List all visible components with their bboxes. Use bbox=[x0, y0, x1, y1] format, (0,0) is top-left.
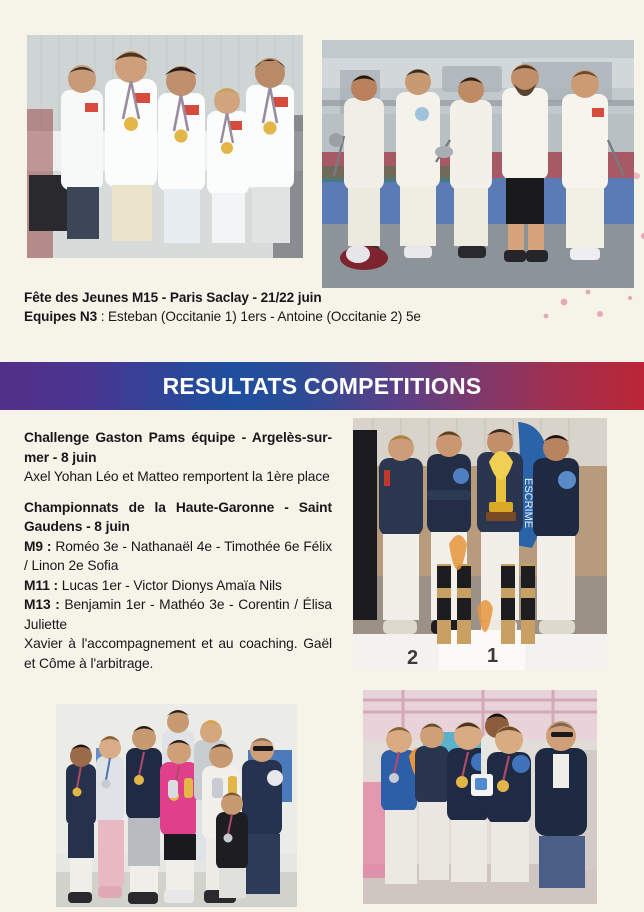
category-label-m9: M9 : bbox=[24, 539, 51, 554]
result-heading-2: Championnats de la Haute-Garonne - Saint… bbox=[24, 498, 332, 537]
competition-hall-team-photo bbox=[322, 40, 634, 288]
top-caption-block: Fête des Jeunes M15 - Paris Saclay - 21/… bbox=[24, 288, 584, 326]
caption-event-title: Fête des Jeunes M15 - Paris Saclay - 21/… bbox=[24, 290, 322, 305]
svg-text:2: 2 bbox=[407, 647, 418, 669]
results-banner: RESULTATS COMPETITIONS bbox=[0, 362, 644, 410]
young-fencers-medals-photo bbox=[363, 690, 597, 904]
results-spacer bbox=[24, 487, 332, 498]
banner-title: RESULTATS COMPETITIONS bbox=[163, 373, 482, 400]
result-line-2-0: M9 : Roméo 3e - Nathanaël 4e - Timothée … bbox=[24, 537, 332, 576]
result-heading-1: Challenge Gaston Pams équipe - Argelès-s… bbox=[24, 428, 332, 467]
category-value-m11: Lucas 1er - Victor Dionys Amaïa Nils bbox=[58, 578, 282, 593]
caption-line-event: Fête des Jeunes M15 - Paris Saclay - 21/… bbox=[24, 288, 584, 307]
caption-line-teams: Equipes N3 : Esteban (Occitanie 1) 1ers … bbox=[24, 307, 584, 326]
category-value-m13: Benjamin 1er - Mathéo 3e - Corentin / Él… bbox=[24, 597, 332, 632]
newsletter-page: Fête des Jeunes M15 - Paris Saclay - 21/… bbox=[0, 0, 644, 912]
result-line-1-0: Axel Yohan Léo et Matteo remportent la 1… bbox=[24, 467, 332, 487]
caption-teams-label: Equipes N3 bbox=[24, 309, 97, 324]
caption-teams-value: : Esteban (Occitanie 1) 1ers - Antoine (… bbox=[97, 309, 421, 324]
medal-ceremony-team-photo bbox=[27, 35, 303, 258]
category-label-m13: M13 : bbox=[24, 597, 60, 612]
result-line-2-1: M11 : Lucas 1er - Victor Dionys Amaïa Ni… bbox=[24, 576, 332, 596]
category-label-m11: M11 : bbox=[24, 578, 58, 593]
podium-trophy-team-photo: ESCRIME bbox=[353, 418, 607, 670]
top-photo-row bbox=[0, 35, 644, 260]
svg-text:ESCRIME: ESCRIME bbox=[522, 478, 534, 528]
result-line-2-2: M13 : Benjamin 1er - Mathéo 3e - Corenti… bbox=[24, 595, 332, 634]
young-fencers-group-photo bbox=[56, 704, 297, 907]
category-value-m9: Roméo 3e - Nathanaël 4e - Timothée 6e Fé… bbox=[24, 539, 332, 574]
svg-text:1: 1 bbox=[487, 645, 498, 667]
result-line-2-3: Xavier à l'accompagnement et au coaching… bbox=[24, 634, 332, 673]
results-text-column: Challenge Gaston Pams équipe - Argelès-s… bbox=[24, 428, 332, 673]
